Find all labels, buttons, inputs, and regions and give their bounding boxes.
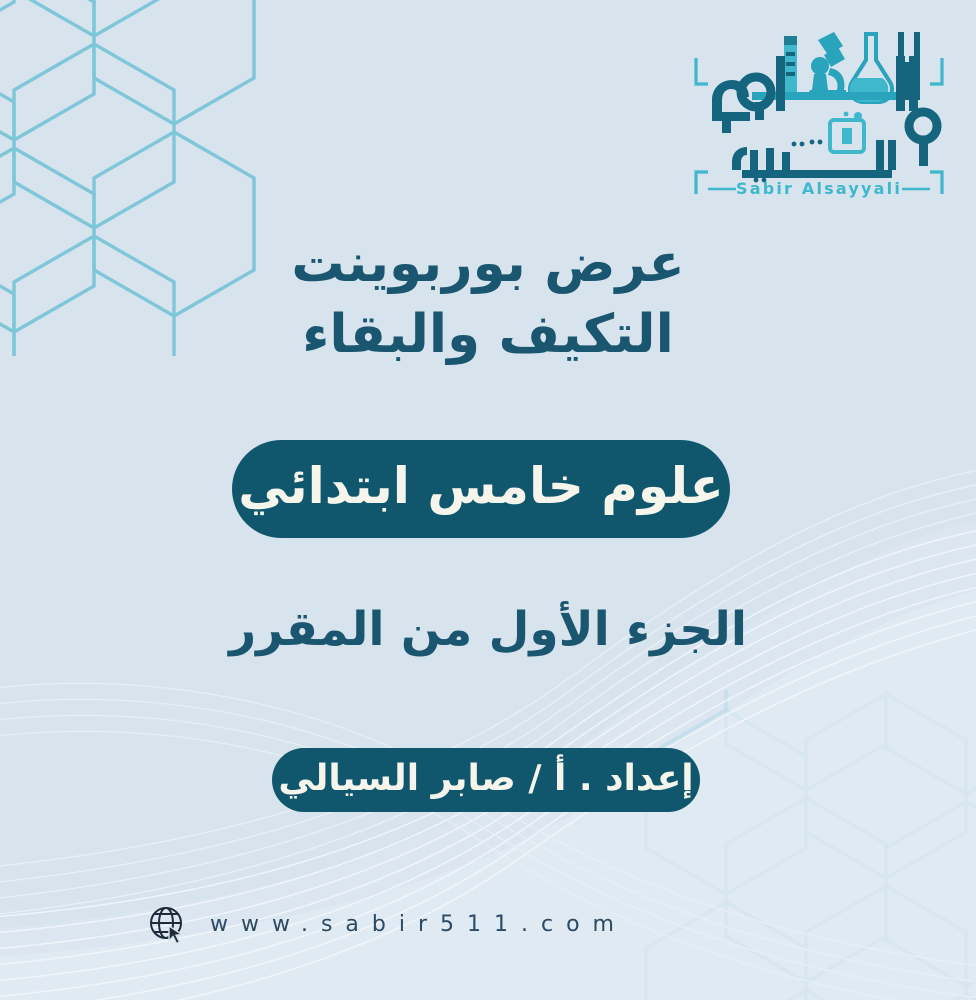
title-line-2: التكيف والبقاء <box>0 299 976 370</box>
part-subtitle: الجزء الأول من المقرر <box>0 602 976 657</box>
grade-badge: علوم خامس ابتدائي <box>232 440 730 538</box>
slide-content: عرض بوربوينت التكيف والبقاء علوم خامس اب… <box>0 0 976 1000</box>
website-url[interactable]: www.sabir511.com <box>210 912 627 937</box>
website-footer: www.sabir511.com <box>146 903 627 945</box>
page-title: عرض بوربوينت التكيف والبقاء <box>0 228 976 370</box>
presentation-title-slide: Sabir Alsayyali عرض بوربوينت التكيف والب… <box>0 0 976 1000</box>
globe-cursor-icon <box>146 903 188 945</box>
author-badge: إعداد . أ / صابر السيالي <box>272 748 700 812</box>
title-line-1: عرض بوربوينت <box>0 228 976 299</box>
